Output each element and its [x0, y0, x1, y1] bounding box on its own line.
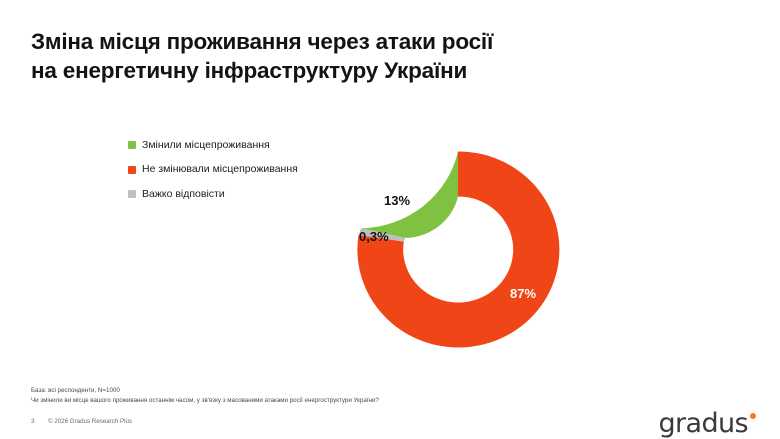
legend-label-hard-to-answer: Важко відповісти — [142, 189, 225, 200]
legend-swatch-green-icon — [128, 141, 136, 149]
gradus-logo-text: gradus — [658, 410, 748, 437]
gradus-logo-dot-icon — [750, 413, 756, 419]
page-title: Зміна місця проживання через атаки росії… — [31, 27, 691, 86]
donut-slice-not-changed[interactable] — [357, 151, 559, 347]
gradus-logo: gradus — [658, 410, 756, 437]
page-title-line-1: Зміна місця проживання через атаки росії — [31, 27, 691, 56]
footnotes: База: всі респонденти, N=1000 Чи змінили… — [31, 386, 379, 406]
legend-label-not-changed: Не змінювали місцепроживання — [142, 164, 298, 175]
donut-chart: 13% 0,3% 87% — [347, 142, 569, 357]
donut-chart-svg — [347, 142, 569, 357]
copyright-notice: © 2026 Gradus Research Plus — [48, 418, 132, 425]
legend-swatch-red-icon — [128, 166, 136, 174]
legend-swatch-gray-icon — [128, 190, 136, 198]
data-label-hard-to-answer: 0,3% — [359, 230, 389, 243]
footnote-base: База: всі респонденти, N=1000 — [31, 386, 379, 396]
legend-item-hard-to-answer[interactable]: Важко відповісти — [128, 184, 298, 204]
footnote-question: Чи змінили ви місце вашого проживання ос… — [31, 396, 379, 406]
page-title-line-2: на енергетичну інфраструктуру України — [31, 56, 691, 85]
legend-item-changed[interactable]: Змінили місцепроживання — [128, 135, 298, 155]
data-label-not-changed: 87% — [510, 287, 536, 300]
bottom-bar: 3 © 2026 Gradus Research Plus gradus — [0, 412, 780, 439]
slide: Зміна місця проживання через атаки росії… — [0, 0, 780, 439]
data-label-changed: 13% — [384, 194, 410, 207]
legend-item-not-changed[interactable]: Не змінювали місцепроживання — [128, 160, 298, 180]
page-number: 3 — [31, 418, 34, 425]
legend-label-changed: Змінили місцепроживання — [142, 140, 270, 151]
chart-legend: Змінили місцепроживання Не змінювали міс… — [128, 135, 298, 209]
